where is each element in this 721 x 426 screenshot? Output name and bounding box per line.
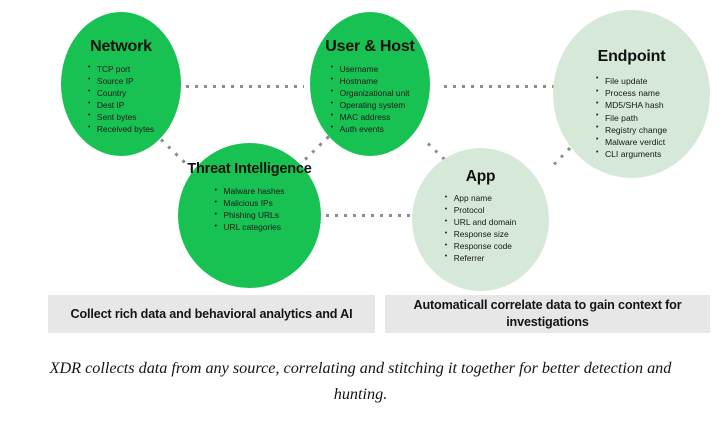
node-threat-intelligence[interactable]: Threat Intelligence Malware hashes Malic…: [178, 143, 321, 288]
list-item: Referrer: [445, 253, 517, 265]
list-item: File update: [596, 75, 667, 87]
list-item: Auth events: [331, 124, 410, 136]
connector-network-userhost: [186, 85, 304, 88]
list-item: App name: [445, 193, 517, 205]
list-item: Response size: [445, 229, 517, 241]
list-item: MD5/SHA hash: [596, 99, 667, 111]
connector-threat-userhost: [304, 135, 331, 161]
list-item: Dest IP: [88, 100, 154, 112]
list-item: Process name: [596, 87, 667, 99]
node-network[interactable]: Network TCP port Source IP Country Dest …: [61, 12, 181, 156]
node-endpoint[interactable]: Endpoint File update Process name MD5/SH…: [553, 10, 710, 178]
list-item: CLI arguments: [596, 148, 667, 160]
list-item: Received bytes: [88, 124, 154, 136]
node-network-title: Network: [90, 38, 152, 56]
list-item: Protocol: [445, 205, 517, 217]
node-threat-intelligence-title: Threat Intelligence: [187, 161, 311, 177]
list-item: Registry change: [596, 124, 667, 136]
list-item: Response code: [445, 241, 517, 253]
connector-threat-app: [326, 214, 410, 217]
node-threat-intelligence-items: Malware hashes Malicious IPs Phishing UR…: [215, 186, 285, 234]
summary-box-left: Collect rich data and behavioral analyti…: [48, 295, 375, 333]
node-network-items: TCP port Source IP Country Dest IP Sent …: [88, 64, 154, 136]
list-item: URL categories: [215, 222, 285, 234]
node-endpoint-items: File update Process name MD5/SHA hash Fi…: [596, 75, 667, 160]
list-item: URL and domain: [445, 217, 517, 229]
list-item: Operating system: [331, 100, 410, 112]
list-item: MAC address: [331, 112, 410, 124]
list-item: Malware verdict: [596, 136, 667, 148]
node-user-host-title: User & Host: [325, 38, 414, 56]
list-item: Malware hashes: [215, 186, 285, 198]
connector-network-threat: [160, 138, 187, 164]
diagram-canvas: Network TCP port Source IP Country Dest …: [0, 0, 721, 426]
node-endpoint-title: Endpoint: [598, 48, 666, 66]
list-item: File path: [596, 112, 667, 124]
list-item: Phishing URLs: [215, 210, 285, 222]
node-user-host-items: Username Hostname Organizational unit Op…: [331, 64, 410, 136]
connector-userhost-endpoint: [444, 85, 556, 88]
list-item: Organizational unit: [331, 88, 410, 100]
list-item: Malicious IPs: [215, 198, 285, 210]
list-item: Hostname: [331, 76, 410, 88]
list-item: Country: [88, 88, 154, 100]
node-user-host[interactable]: User & Host Username Hostname Organizati…: [310, 12, 430, 156]
summary-box-right: Automaticall correlate data to gain cont…: [385, 295, 710, 333]
list-item: TCP port: [88, 64, 154, 76]
list-item: Sent bytes: [88, 112, 154, 124]
node-app-title: App: [466, 168, 496, 185]
list-item: Username: [331, 64, 410, 76]
figure-caption: XDR collects data from any source, corre…: [22, 355, 699, 407]
list-item: Source IP: [88, 76, 154, 88]
node-app-items: App name Protocol URL and domain Respons…: [445, 193, 517, 265]
node-app[interactable]: App App name Protocol URL and domain Res…: [412, 148, 549, 291]
